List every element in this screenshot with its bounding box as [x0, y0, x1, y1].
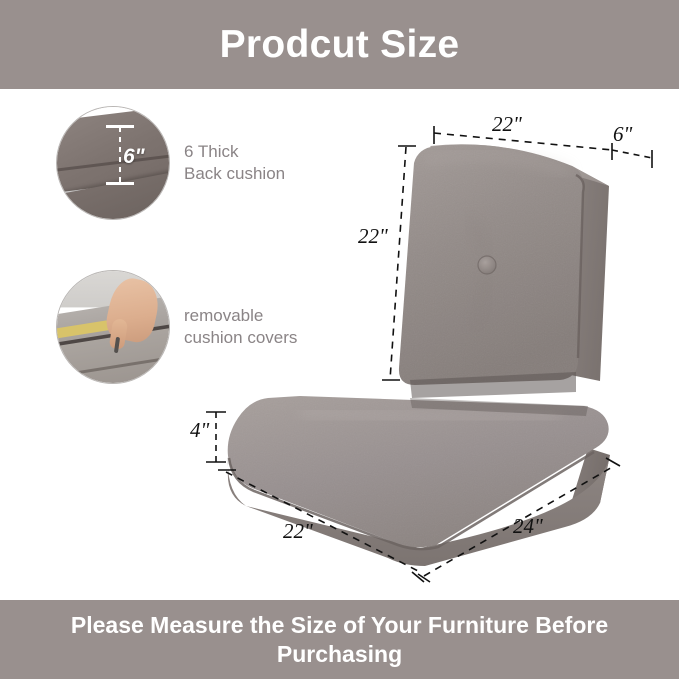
footer-banner: Please Measure the Size of Your Furnitur…	[0, 600, 679, 679]
dimension-label-seat-thickness: 4"	[190, 418, 209, 443]
dimension-label-back-width: 22"	[492, 112, 522, 137]
dimension-label-seat-depth: 22"	[283, 519, 313, 544]
dimension-label-seat-width: 24"	[513, 514, 543, 539]
product-size-infographic: Prodcut Size 6" 6 Thick Back cushion rem…	[0, 0, 679, 679]
back-cushion-graphic	[399, 144, 609, 398]
dimension-label-back-depth: 6"	[613, 122, 632, 147]
product-illustration: 22" 6" 22" 4" 22" 24"	[0, 0, 679, 679]
footer-note: Please Measure the Size of Your Furnitur…	[0, 611, 679, 667]
dimension-label-back-height: 22"	[358, 224, 388, 249]
line-back-depth	[612, 150, 652, 158]
